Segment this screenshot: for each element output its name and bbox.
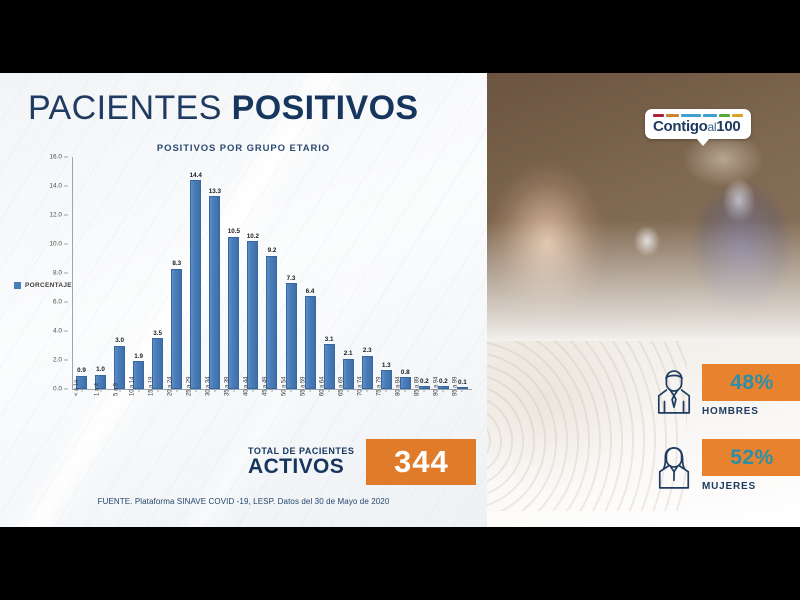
total-number: 344 (394, 444, 449, 480)
bar (362, 356, 373, 389)
bar-value-label: 8.3 (172, 260, 181, 267)
caption-hombres: HOMBRES (702, 406, 800, 417)
y-axis-tick-mark (64, 186, 68, 187)
y-axis-tick-label: 0.0 (53, 386, 62, 393)
y-axis-tick-mark (64, 244, 68, 245)
legend-swatch-icon (14, 282, 21, 289)
bar-column: 6.455 a 59 (304, 157, 317, 389)
caption-mujeres: MUJERES (702, 481, 800, 492)
male-avatar-icon (655, 367, 693, 415)
total-patients-block: TOTAL DE PACIENTES ACTIVOS 344 (248, 439, 476, 485)
bar (305, 296, 316, 389)
bar-column: 0.285 a 89 (418, 157, 431, 389)
page-title: PACIENTES POSITIVOS (28, 89, 419, 128)
bar-value-label: 10.2 (247, 233, 259, 240)
logo-bar-segment (681, 114, 701, 117)
title-light: PACIENTES (28, 89, 232, 127)
y-axis-tick-label: 16.0 (49, 154, 62, 161)
total-word: ACTIVOS (248, 456, 354, 478)
x-axis-tick-mark (81, 389, 82, 392)
logo-bar-segment (719, 114, 730, 117)
x-axis-tick-label: 5 a 9 (113, 383, 119, 396)
x-axis-tick-mark (405, 389, 406, 392)
bar-column: 0.195 a 99 (456, 157, 469, 389)
stat-row-hombres: 48% HOMBRES (655, 364, 800, 417)
bar-column: 8.320 a 24 (170, 157, 183, 389)
x-axis-tick-label: 15 a 19 (148, 377, 154, 396)
y-axis-tick-mark (64, 273, 68, 274)
logo-word-3: 100 (716, 118, 740, 135)
x-axis-tick-label: 95 a 99 (453, 377, 459, 396)
percent-box-hombres: 48% (702, 364, 800, 401)
bar-column: 1.375 a 79 (380, 157, 393, 389)
bar-column: 3.160 a 64 (323, 157, 336, 389)
x-axis-tick-label: 60 a 64 (319, 377, 325, 396)
logo-bar-segment (666, 114, 679, 117)
stat-row-mujeres: 52% MUJERES (655, 439, 800, 492)
bar-value-label: 0.1 (458, 379, 467, 386)
bar-column: 3.05 a 9 (113, 157, 126, 389)
logo-text: Contigoal100 (653, 119, 743, 134)
x-axis-tick-mark (214, 389, 215, 392)
bar (247, 241, 258, 389)
x-axis-tick-mark (271, 389, 272, 392)
bar-column: 2.370 a 74 (361, 157, 374, 389)
x-axis-tick-label: 55 a 59 (300, 377, 306, 396)
x-axis-tick-mark (138, 389, 139, 392)
percent-mujeres: 52% (730, 446, 774, 470)
y-axis-tick-mark (64, 389, 68, 390)
bar-column: 2.165 a 69 (342, 157, 355, 389)
bar (171, 269, 182, 389)
x-axis-tick-label: 45 a 49 (262, 377, 268, 396)
total-text: TOTAL DE PACIENTES ACTIVOS (248, 439, 366, 485)
bar-column: 13.330 a 34 (208, 157, 221, 389)
y-axis-tick-label: 10.0 (49, 241, 62, 248)
y-axis-tick-label: 6.0 (53, 299, 62, 306)
media-panel: Contigoal100 48% (487, 73, 800, 527)
title-bold: POSITIVOS (232, 89, 419, 127)
bar-value-label: 3.5 (153, 330, 162, 337)
bar-column: 0.880 a 84 (399, 157, 412, 389)
logo-color-bars-icon (653, 114, 743, 117)
y-axis-tick-label: 8.0 (53, 270, 62, 277)
bar-value-label: 3.1 (325, 336, 334, 343)
bar-value-label: 0.2 (439, 378, 448, 385)
bar-column: 3.515 a 19 (151, 157, 164, 389)
bar-column: 14.425 a 29 (189, 157, 202, 389)
slide-stage: PACIENTES POSITIVOS POSITIVOS POR GRUPO … (0, 0, 800, 600)
chart-panel: PACIENTES POSITIVOS POSITIVOS POR GRUPO … (0, 73, 487, 527)
x-axis-tick-label: 85 a 89 (415, 377, 421, 396)
y-axis-tick-label: 2.0 (53, 357, 62, 364)
contigo-al-100-logo: Contigoal100 (645, 109, 751, 139)
bar (400, 377, 411, 389)
x-axis-tick-mark (195, 389, 196, 392)
bar-column: 9.245 a 49 (265, 157, 278, 389)
bar-value-label: 13.3 (209, 188, 221, 195)
plot-area: 0.02.04.06.08.010.012.014.016.0 0.9< a 1… (72, 157, 472, 425)
x-axis-tick-mark (329, 389, 330, 392)
x-axis-tick-mark (310, 389, 311, 392)
bar (228, 237, 239, 389)
bar (266, 256, 277, 389)
y-axis-tick-mark (64, 331, 68, 332)
y-axis-tick-mark (64, 302, 68, 303)
covid-test-photo (487, 73, 800, 341)
x-axis-tick-mark (157, 389, 158, 392)
x-axis-tick-mark (252, 389, 253, 392)
female-avatar-icon (655, 442, 693, 490)
x-axis-tick-label: 50 a 54 (281, 377, 287, 396)
bar (209, 196, 220, 389)
bar-value-label: 1.3 (382, 362, 391, 369)
x-axis-tick-mark (176, 389, 177, 392)
bar-column: 10.535 a 39 (227, 157, 240, 389)
bar-value-label: 0.2 (420, 378, 429, 385)
logo-word-2: al (708, 120, 717, 134)
bar-chart: PORCENTAJE 0.02.04.06.08.010.012.014.016… (10, 157, 480, 425)
percent-box-mujeres: 52% (702, 439, 800, 476)
bar-column: 1.910 a 14 (132, 157, 145, 389)
bar-value-label: 7.3 (287, 275, 296, 282)
letterbox-bottom (0, 527, 800, 600)
bar-value-label: 10.5 (228, 228, 240, 235)
bar-value-label: 3.0 (115, 337, 124, 344)
y-axis-tick-label: 4.0 (53, 328, 62, 335)
chart-subtitle: POSITIVOS POR GRUPO ETARIO (0, 143, 487, 154)
x-axis-tick-label: 20 a 24 (167, 377, 173, 396)
x-axis-tick-label: 10 a 14 (129, 377, 135, 396)
bar (381, 370, 392, 389)
stat-value-mujeres: 52% MUJERES (702, 439, 800, 492)
x-axis-tick-label: 65 a 69 (338, 377, 344, 396)
logo-word-1: Contigo (653, 118, 708, 135)
x-axis-tick-label: 40 a 44 (243, 377, 249, 396)
logo-bar-segment (653, 114, 664, 117)
x-axis-tick-label: 30 a 34 (205, 377, 211, 396)
bar-value-label: 0.8 (401, 369, 410, 376)
stat-value-hombres: 48% HOMBRES (702, 364, 800, 417)
bar-value-label: 6.4 (306, 288, 315, 295)
x-axis-tick-mark (462, 389, 463, 392)
x-axis-tick-label: < a 1a (73, 380, 79, 396)
x-axis-tick-mark (291, 389, 292, 392)
x-axis-tick-mark (424, 389, 425, 392)
bar (190, 180, 201, 389)
x-axis-tick-mark (367, 389, 368, 392)
bar-column: 10.240 a 44 (246, 157, 259, 389)
x-axis-tick-mark (233, 389, 234, 392)
total-number-box: 344 (366, 439, 476, 485)
x-axis-tick-label: 90 a 94 (434, 377, 440, 396)
x-axis-tick-mark (348, 389, 349, 392)
y-axis-tick-label: 12.0 (49, 212, 62, 219)
bar-value-label: 2.1 (344, 350, 353, 357)
y-axis-tick-label: 14.0 (49, 183, 62, 190)
y-axis-tick-mark (64, 360, 68, 361)
source-footnote: FUENTE. Plataforma SINAVE COVID -19, LES… (0, 497, 487, 506)
bar-value-label: 1.0 (96, 366, 105, 373)
bar-series: 0.9< a 1a1.01 a 43.05 a 91.910 a 143.515… (72, 157, 472, 389)
percent-hombres: 48% (730, 371, 774, 395)
letterbox-top (0, 0, 800, 73)
bar-value-label: 2.3 (363, 347, 372, 354)
bar-value-label: 9.2 (268, 247, 277, 254)
bar-column: 0.290 a 94 (437, 157, 450, 389)
presentation-slide: PACIENTES POSITIVOS POSITIVOS POR GRUPO … (0, 73, 800, 527)
x-axis-tick-label: 35 a 39 (224, 377, 230, 396)
logo-bar-segment (703, 114, 717, 117)
x-axis-tick-mark (443, 389, 444, 392)
y-axis: 0.02.04.06.08.010.012.014.016.0 (38, 157, 68, 389)
x-axis-tick-label: 1 a 4 (94, 383, 100, 396)
y-axis-tick-mark (64, 215, 68, 216)
x-axis-tick-label: 80 a 84 (396, 377, 402, 396)
y-axis-tick-mark (64, 157, 68, 158)
bar-column: 0.9< a 1a (75, 157, 88, 389)
x-axis-tick-label: 70 a 74 (358, 377, 364, 396)
x-axis-tick-label: 25 a 29 (186, 377, 192, 396)
gender-stats: 48% HOMBRES (487, 341, 800, 527)
bar (286, 283, 297, 389)
logo-bar-segment (732, 114, 743, 117)
bar-value-label: 1.9 (134, 353, 143, 360)
x-axis-tick-label: 75 a 79 (377, 377, 383, 396)
x-axis-tick-mark (386, 389, 387, 392)
bar-value-label: 14.4 (190, 172, 202, 179)
bar-column: 7.350 a 54 (285, 157, 298, 389)
bar-value-label: 0.9 (77, 367, 86, 374)
bar-column: 1.01 a 4 (94, 157, 107, 389)
